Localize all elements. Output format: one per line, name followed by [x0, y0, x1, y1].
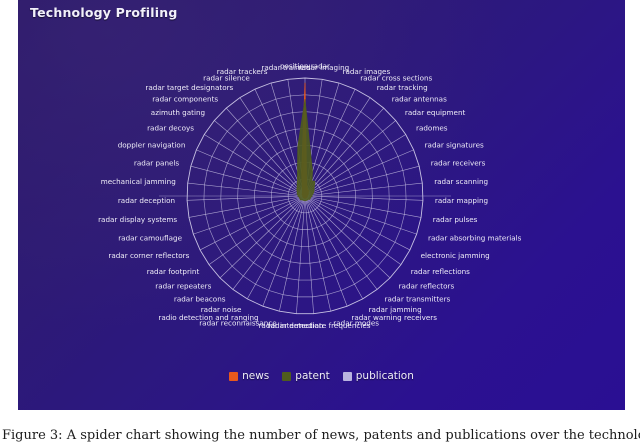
figure-caption: Figure 3: A spider chart showing the num…: [2, 429, 638, 444]
axis-label: radar pulses: [433, 215, 478, 224]
axis-label: mechanical jamming: [101, 177, 176, 186]
figure-stage: Technology Profiling position radarradar…: [0, 0, 640, 444]
legend-item-publication[interactable]: publication: [343, 370, 414, 382]
axis-label: radar corner reflectors: [108, 251, 189, 260]
axis-label: radar trainers: [261, 63, 311, 72]
grid-spoke: [305, 196, 421, 217]
axis-label: radar decoys: [147, 124, 194, 133]
axis-label: radar trackers: [217, 67, 268, 76]
axis-label: radar scanning: [434, 177, 488, 186]
axis-label: radar mapping: [435, 196, 488, 205]
grid-spoke: [200, 196, 305, 250]
figure-caption-clip: Figure 3: A spider chart showing the num…: [0, 429, 640, 444]
legend-label: news: [242, 370, 269, 382]
axis-label: radar noise: [201, 305, 242, 314]
legend-swatch-publication-icon: [343, 372, 352, 381]
grid-spoke: [189, 196, 305, 217]
axis-label: electronic jamming: [421, 251, 490, 260]
legend-label: publication: [356, 370, 414, 382]
legend-item-news[interactable]: news: [229, 370, 269, 382]
axis-label: doppler navigation: [118, 141, 186, 150]
legend-label: patent: [295, 370, 329, 382]
grid-spoke: [187, 196, 305, 200]
grid-spoke: [305, 196, 377, 289]
axis-label: radar equipment: [405, 108, 466, 117]
legend-swatch-news-icon: [229, 372, 238, 381]
radar-plot: position radarradar imagingradar imagesr…: [18, 0, 625, 410]
axis-label: radar cross sections: [360, 74, 432, 83]
legend-swatch-patent-icon: [282, 372, 291, 381]
grid-spoke: [226, 108, 305, 196]
axis-label: radar camouflage: [118, 233, 182, 242]
legend-item-patent[interactable]: patent: [282, 370, 329, 382]
axis-label: radar reflectors: [399, 282, 455, 291]
axis-label: radar footprint: [147, 267, 200, 276]
radar-series-group: [297, 83, 315, 201]
grid-spoke: [305, 196, 410, 250]
axis-label: radomes: [416, 124, 448, 133]
chart-legend: newspatentpublication: [18, 370, 625, 382]
axis-label: radar panels: [134, 159, 180, 168]
grid-spoke: [305, 196, 423, 200]
grid-spoke: [305, 196, 417, 234]
grid-spoke: [305, 89, 355, 196]
axis-label: radar deception: [118, 196, 175, 205]
grid-spoke: [305, 121, 396, 196]
grid-spoke: [209, 196, 305, 265]
grid-spoke: [214, 121, 305, 196]
axis-label: radar signatures: [425, 141, 484, 150]
axis-label: radar beacons: [174, 294, 226, 303]
grid-spoke: [305, 196, 314, 314]
axis-label: radar target designators: [145, 83, 233, 92]
grid-spoke: [193, 196, 305, 234]
grid-spoke: [247, 196, 305, 299]
axis-label: radar repeaters: [155, 282, 211, 291]
axis-label: radar reflections: [411, 267, 470, 276]
axis-label: azimuth gating: [151, 108, 205, 117]
grid-spoke: [305, 196, 390, 278]
axis-label: radar antennas: [392, 95, 447, 104]
grid-spoke: [305, 196, 401, 265]
series-area-patent: [297, 99, 315, 200]
grid-spoke: [296, 196, 305, 314]
axis-label: radar tracking: [377, 83, 428, 92]
axis-label: radar absorbing materials: [428, 233, 522, 242]
axis-label: radar receivers: [431, 159, 486, 168]
grid-spoke: [220, 196, 305, 278]
axis-label: radar components: [152, 95, 218, 104]
axis-label: radar transmitters: [385, 294, 451, 303]
axis-label: radar display systems: [98, 215, 177, 224]
grid-spoke: [305, 108, 384, 196]
grid-spoke: [233, 196, 305, 289]
grid-spoke: [305, 196, 363, 299]
page-title: Technology Profiling: [30, 5, 178, 20]
radar-chart-svg: position radarradar imagingradar imagesr…: [18, 0, 625, 410]
chart-panel: Technology Profiling position radarradar…: [18, 0, 625, 410]
axis-label: radio detection and ranging: [158, 313, 258, 322]
